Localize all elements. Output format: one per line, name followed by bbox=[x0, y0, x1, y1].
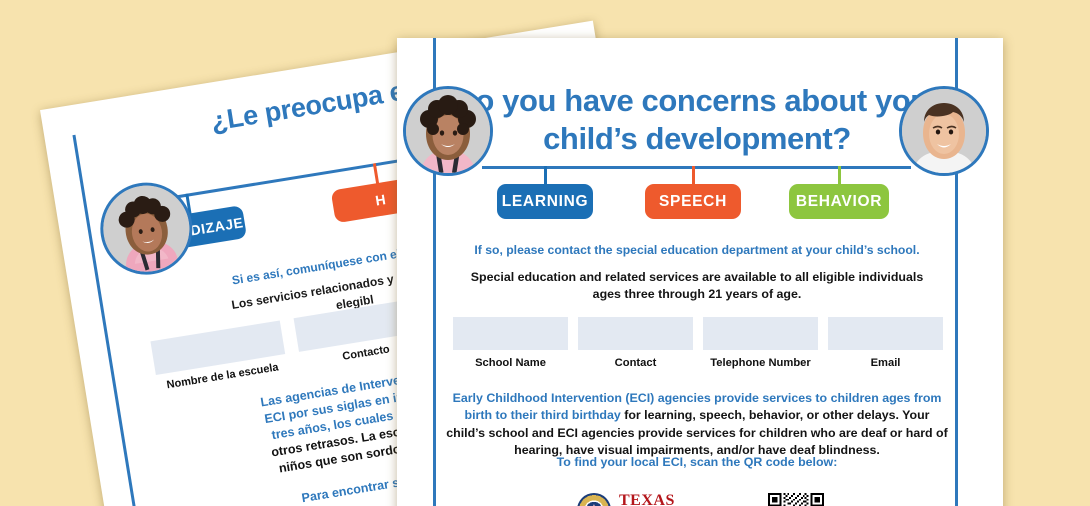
english-input-email[interactable] bbox=[828, 317, 943, 350]
english-eci-paragraph: Early Childhood Intervention (ECI) agenc… bbox=[445, 390, 949, 460]
english-field-email[interactable]: Email bbox=[828, 317, 943, 369]
english-field-school-name[interactable]: School Name bbox=[453, 317, 568, 369]
english-logo-text: TEXAS Health and Human Services Early Ch… bbox=[619, 493, 720, 506]
young-woman-photo bbox=[406, 89, 490, 173]
english-caption-telephone: Telephone Number bbox=[703, 357, 818, 369]
english-title-line-2: child’s development? bbox=[437, 120, 957, 158]
qr-code[interactable] bbox=[768, 493, 824, 506]
spanish-avatar-young-woman bbox=[94, 176, 200, 282]
english-form-fields: School Name Contact Telephone Number Ema… bbox=[453, 317, 943, 369]
english-logo-wordmark: TEXAS bbox=[619, 493, 720, 506]
english-caption-email: Email bbox=[828, 357, 943, 369]
english-qr-prompt: To find your local ECI, scan the QR code… bbox=[445, 455, 949, 469]
english-eligibility-line: Special education and related services a… bbox=[467, 269, 927, 303]
qr-code-icon bbox=[768, 493, 824, 506]
english-input-telephone[interactable] bbox=[703, 317, 818, 350]
english-caption-school-name: School Name bbox=[453, 357, 568, 369]
english-hhs-logo: TEXAS Health and Human Services Early Ch… bbox=[577, 493, 720, 506]
english-page-title: Do you have concerns about your child’s … bbox=[437, 82, 957, 158]
young-woman-photo bbox=[97, 179, 196, 278]
english-avatar-young-man bbox=[899, 86, 989, 176]
english-avatar-young-woman bbox=[403, 86, 493, 176]
pill-learning[interactable]: LEARNING bbox=[497, 184, 593, 219]
english-contact-line: If so, please contact the special educat… bbox=[457, 243, 937, 257]
pill-speech[interactable]: SPEECH bbox=[645, 184, 741, 219]
english-title-line-1: Do you have concerns about your bbox=[437, 82, 957, 120]
english-caption-contact: Contact bbox=[578, 357, 693, 369]
english-input-school-name[interactable] bbox=[453, 317, 568, 350]
texas-seal-icon bbox=[577, 493, 611, 506]
english-field-contact[interactable]: Contact bbox=[578, 317, 693, 369]
screenshot-canvas: ¿Le preocupa el d APRENDIZAJE H Si es as… bbox=[0, 0, 1090, 506]
english-field-telephone[interactable]: Telephone Number bbox=[703, 317, 818, 369]
young-man-photo bbox=[902, 89, 986, 173]
pill-behavior[interactable]: BEHAVIOR bbox=[789, 184, 889, 219]
english-footer: TEXAS Health and Human Services Early Ch… bbox=[577, 493, 824, 506]
english-input-contact[interactable] bbox=[578, 317, 693, 350]
